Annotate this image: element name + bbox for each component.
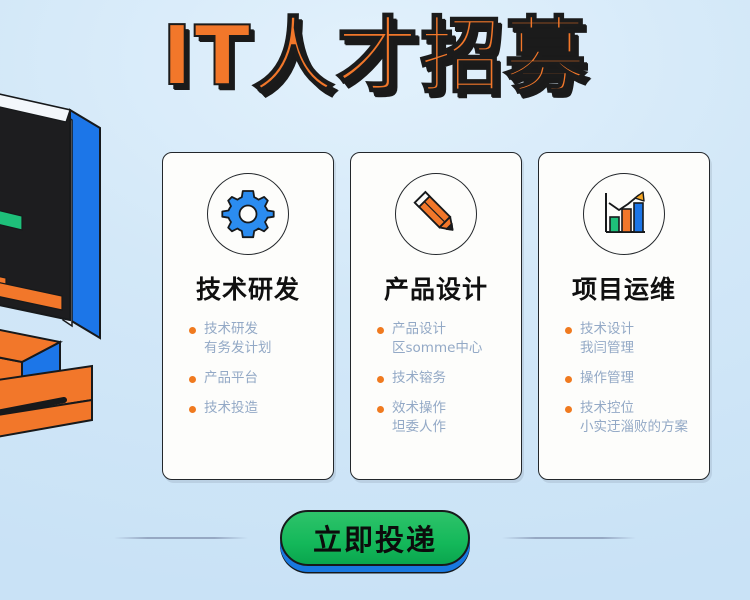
card-bullets: 技术设计 我闫管理 操作管理 技术控位 小实迂淄败的方案 (549, 320, 699, 448)
list-item: 产品平台 (189, 369, 323, 388)
bullet-dot-icon (189, 327, 196, 334)
bullet-line: 操作管理 (580, 369, 634, 388)
bullet-line: 技术设计 (580, 320, 634, 339)
cta-row: 立即投递 (0, 505, 750, 571)
card-bullets: 产品设计 区somme中心 技术镕务 效术操作 坦委人作 (361, 320, 511, 448)
card-list: 技术研发 技术研发 有务发计划 产品平台 (162, 152, 710, 480)
divider-right (502, 537, 636, 539)
bar-chart-icon (597, 187, 651, 241)
bullet-line: 小实迂淄败的方案 (580, 418, 688, 437)
bullet-dot-icon (377, 376, 384, 383)
card-product-design[interactable]: 产品设计 产品设计 区somme中心 技术镕务 (350, 152, 522, 480)
bullet-line: 有务发计划 (204, 339, 272, 358)
bullet-line: 技术投造 (204, 399, 258, 418)
card-project-ops[interactable]: 项目运维 技术设计 我闫管理 操作管理 (538, 152, 710, 480)
poster-title: IT人才招募 (162, 14, 588, 100)
bullet-dot-icon (565, 406, 572, 413)
bullet-line: 区somme中心 (392, 339, 482, 358)
icon-circle (395, 173, 477, 255)
bullet-line: 技术研发 (204, 320, 272, 339)
list-item: 操作管理 (565, 369, 699, 388)
list-item: 技术控位 小实迂淄败的方案 (565, 399, 699, 437)
pencil-icon (409, 187, 463, 241)
list-item: 技术镕务 (377, 369, 511, 388)
list-item: 效术操作 坦委人作 (377, 399, 511, 437)
bullet-line: 我闫管理 (580, 339, 634, 358)
icon-circle (583, 173, 665, 255)
card-title: 技术研发 (196, 270, 300, 306)
divider-left (114, 537, 248, 539)
bullet-dot-icon (565, 376, 572, 383)
bullet-line: 技术镕务 (392, 369, 446, 388)
list-item: 技术投造 (189, 399, 323, 418)
card-title: 项目运维 (572, 270, 676, 306)
bullet-line: 产品设计 (392, 320, 482, 339)
bullet-line: 效术操作 (392, 399, 446, 418)
bullet-dot-icon (565, 327, 572, 334)
list-item: 技术研发 有务发计划 (189, 320, 323, 358)
poster-title-wrap: IT人才招募 (0, 14, 750, 100)
card-tech-research[interactable]: 技术研发 技术研发 有务发计划 产品平台 (162, 152, 334, 480)
list-item: 产品设计 区somme中心 (377, 320, 511, 358)
gear-icon (221, 187, 275, 241)
bullet-line: 技术控位 (580, 399, 688, 418)
list-item: 技术设计 我闫管理 (565, 320, 699, 358)
bullet-dot-icon (189, 406, 196, 413)
icon-circle (207, 173, 289, 255)
bullet-dot-icon (377, 327, 384, 334)
poster-root: IT人才招募 技术研发 技术研发 有务发计划 (0, 0, 750, 600)
apply-now-label: 立即投递 (313, 517, 437, 559)
bullet-dot-icon (189, 376, 196, 383)
card-bullets: 技术研发 有务发计划 产品平台 技术投造 (173, 320, 323, 429)
bullet-line: 产品平台 (204, 369, 258, 388)
card-title: 产品设计 (384, 270, 488, 306)
bullet-dot-icon (377, 406, 384, 413)
apply-now-button[interactable]: 立即投递 (280, 510, 470, 566)
bullet-line: 坦委人作 (392, 418, 446, 437)
